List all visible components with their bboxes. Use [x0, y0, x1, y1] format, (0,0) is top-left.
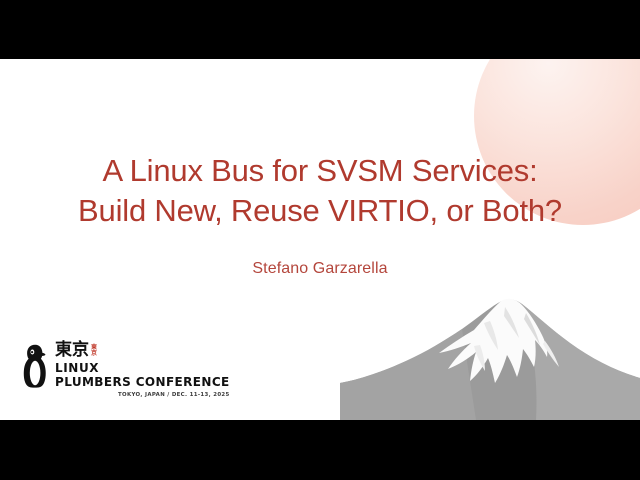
logo-kanji: 東京 — [55, 342, 89, 359]
logo-text-lockup: 東京 東 京 LINUX PLUMBERS CONFERENCE TOKYO, … — [55, 342, 230, 398]
logo-tagline: TOKYO, JAPAN / DEC. 11-13, 2025 — [55, 392, 230, 398]
logo-plumbers-conference-word: PLUMBERS CONFERENCE — [55, 375, 230, 389]
letterbox-bar-bottom — [0, 420, 640, 480]
page-title: A Linux Bus for SVSM Services: Build New… — [0, 151, 640, 232]
slide-canvas: A Linux Bus for SVSM Services: Build New… — [0, 59, 640, 420]
title-block: A Linux Bus for SVSM Services: Build New… — [0, 151, 640, 278]
logo-kanji-row: 東京 東 京 — [55, 342, 230, 359]
linux-penguin-icon — [22, 344, 48, 388]
logo-kanji-accent-bottom: 京 — [91, 351, 97, 357]
slide-screenshot: A Linux Bus for SVSM Services: Build New… — [0, 0, 640, 480]
letterbox-bar-top — [0, 0, 640, 59]
conference-logo: 東京 東 京 LINUX PLUMBERS CONFERENCE TOKYO, … — [22, 342, 230, 398]
logo-linux-word: LINUX — [55, 361, 230, 375]
logo-kanji-accent: 東 京 — [91, 345, 97, 358]
mount-fuji-illustration-icon — [340, 285, 640, 420]
author-name: Stefano Garzarella — [0, 260, 640, 278]
